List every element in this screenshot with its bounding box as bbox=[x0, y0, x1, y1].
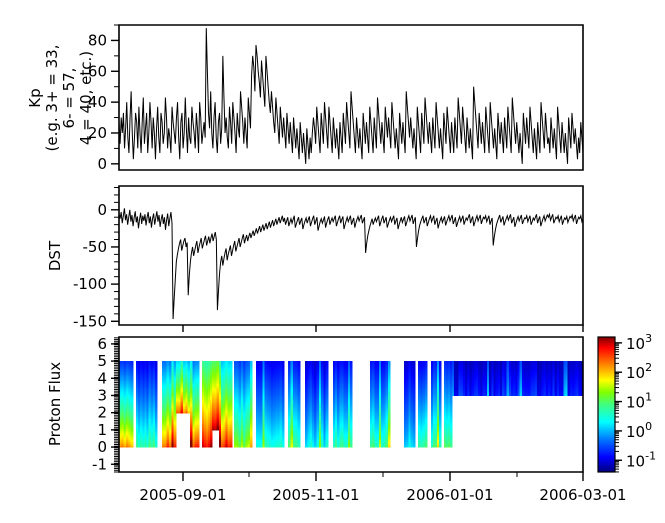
y-tick-label: 6 bbox=[97, 335, 107, 353]
spectrogram-cell bbox=[350, 361, 353, 363]
y-tick-label: -1 bbox=[92, 455, 107, 473]
y-tick-label: 4 bbox=[97, 369, 107, 387]
y-tick-label: 0 bbox=[97, 201, 107, 219]
spectrogram-cell bbox=[413, 361, 416, 363]
spectrogram-cell bbox=[155, 361, 158, 363]
y-tick-label: -150 bbox=[73, 312, 107, 330]
dst-ylabel: DST bbox=[46, 240, 64, 271]
y-tick-label: 0 bbox=[97, 155, 107, 173]
y-tick-label: 40 bbox=[88, 93, 107, 111]
figure-root: Kp (e.g. 3+ = 33, 6- = 57, 4 = 40, etc.)… bbox=[0, 0, 665, 523]
spectrogram-cell bbox=[298, 361, 301, 363]
kp-ylabel-line-1: (e.g. 3+ = 33, bbox=[43, 45, 61, 152]
spectrogram-cell bbox=[131, 361, 134, 363]
proton-flux-ylabel: Proton Flux bbox=[46, 362, 64, 446]
y-tick-label: -50 bbox=[83, 238, 108, 256]
y-tick-label: 3 bbox=[97, 386, 107, 404]
y-tick-label: 5 bbox=[97, 352, 107, 370]
multi-panel-plot: Kp (e.g. 3+ = 33, 6- = 57, 4 = 40, etc.)… bbox=[0, 0, 665, 523]
spectrogram-cell bbox=[230, 361, 233, 363]
y-tick-label: 60 bbox=[88, 62, 107, 80]
kp-ylabel-line-0: Kp bbox=[26, 88, 44, 107]
spectrogram-cell bbox=[388, 361, 391, 363]
spectrogram-cell bbox=[197, 361, 200, 363]
y-tick-label: 20 bbox=[88, 124, 107, 142]
spectrogram-cell bbox=[282, 361, 285, 363]
y-tick-label: 80 bbox=[88, 31, 107, 49]
y-tick-label: 2 bbox=[97, 404, 107, 422]
spectrogram-cell bbox=[326, 361, 329, 363]
y-tick-label: 1 bbox=[97, 421, 107, 439]
kp-ylabel-line-2: 6- = 57, bbox=[60, 68, 78, 129]
spectrogram-cell bbox=[250, 361, 253, 363]
y-tick-label: 0 bbox=[97, 438, 107, 456]
y-tick-label: -100 bbox=[73, 275, 107, 293]
